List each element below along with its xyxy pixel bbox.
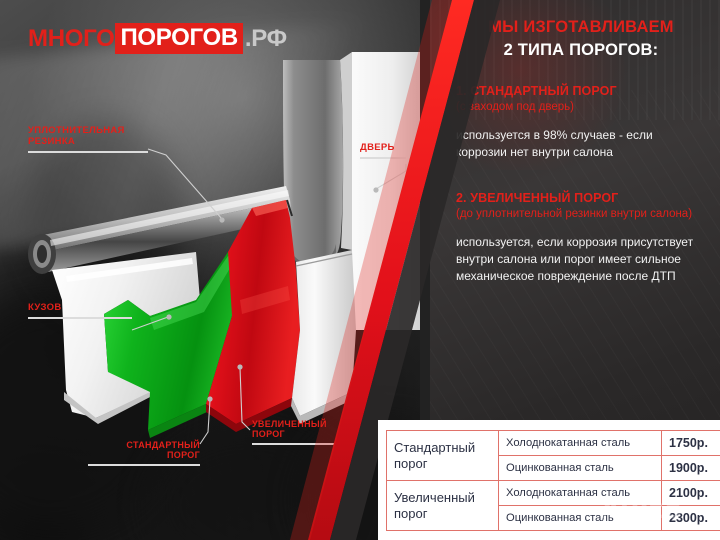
left-photo-panel: УПЛОТНИТЕЛЬНАЯ РЕЗИНКА КУЗОВ ДВЕРЬ СТАНД… [0,0,420,540]
site-logo[interactable]: МНОГО ПОРОГОВ .РФ [28,23,287,54]
section2-body: используется, если коррозия присутствует… [456,234,706,285]
section2-subtitle: (до уплотнительной резинки внутри салона… [456,207,706,221]
callout-std-line1: СТАНДАРТНЫЙ [126,440,200,450]
cell-material-galvanized: Оцинкованная сталь [499,506,662,531]
cell-type-standard: Стандартный порог [387,431,499,481]
lower-rocker-panel [291,250,356,424]
table-row: Стандартный порог Холоднокатанная сталь … [387,431,720,456]
callout-big-line2: ПОРОГ [252,429,285,439]
callout-body-text: КУЗОВ [28,302,62,313]
callout-label-body: КУЗОВ [28,303,132,319]
heading-line-2: 2 ТИПА ПОРОГОВ: [456,41,706,60]
cell-price-big-galv: 2300р. [662,506,720,531]
sill-cross-section-diagram [0,0,420,540]
heading-line-1: МЫ ИЗГОТАВЛИВАЕМ [456,18,706,37]
callout-underline [360,157,406,159]
logo-part-rf: .РФ [245,25,287,53]
cell-material-galvanized: Оцинкованная сталь [499,456,662,481]
poster-root: УПЛОТНИТЕЛЬНАЯ РЕЗИНКА КУЗОВ ДВЕРЬ СТАНД… [0,0,720,540]
section1-body: используется в 98% случаев - если корроз… [456,127,706,161]
callout-std-line2: ПОРОГ [167,450,200,460]
callout-seal-line1: УПЛОТНИТЕЛЬНАЯ [28,125,125,136]
info-section-enlarged: 2. УВЕЛИЧЕННЫЙ ПОРОГ (до уплотнительной … [456,191,706,284]
callout-seal-line2: РЕЗИНКА [28,136,75,147]
table-row: Увеличенный порог Холоднокатанная сталь … [387,481,720,506]
cell-price-std-galv: 1900р. [662,456,720,481]
callout-label-rubber-seal: УПЛОТНИТЕЛЬНАЯ РЕЗИНКА [28,126,148,153]
cell-material-cold-rolled: Холоднокатанная сталь [499,481,662,506]
section1-title: 1. СТАНДАРТНЫЙ ПОРОГ [456,84,706,98]
callout-underline [28,317,132,319]
info-heading: МЫ ИЗГОТАВЛИВАЕМ 2 ТИПА ПОРОГОВ: [456,18,706,60]
info-section-standard: 1. СТАНДАРТНЫЙ ПОРОГ (с заходом под двер… [456,84,706,161]
callout-label-standard-sill: СТАНДАРТНЫЙ ПОРОГ [88,440,200,466]
callout-big-line1: УВЕЛИЧЕННЫЙ [252,419,327,429]
callout-door-text: ДВЕРЬ [360,142,395,153]
cell-type-enlarged: Увеличенный порог [387,481,499,531]
section1-subtitle: (с заходом под дверь) [456,100,706,114]
callout-underline [252,443,346,445]
price-table-card: Стандартный порог Холоднокатанная сталь … [378,420,720,540]
cell-price-big-cold: 2100р. [662,481,720,506]
section2-title: 2. УВЕЛИЧЕННЫЙ ПОРОГ [456,191,706,205]
callout-underline [28,151,148,153]
logo-part-porogov: ПОРОГОВ [115,23,242,54]
callout-underline [88,464,200,466]
cell-material-cold-rolled: Холоднокатанная сталь [499,431,662,456]
callout-label-door: ДВЕРЬ [360,143,406,159]
cell-price-std-cold: 1750р. [662,431,720,456]
logo-part-mnogo: МНОГО [28,25,114,53]
callout-label-enlarged-sill: УВЕЛИЧЕННЫЙ ПОРОГ [252,419,346,445]
price-table: Стандартный порог Холоднокатанная сталь … [386,430,720,531]
